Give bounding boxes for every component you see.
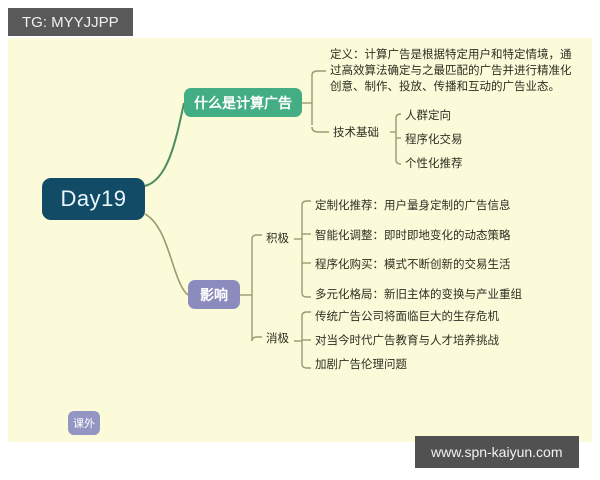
node-negative-item-2[interactable]: 对当今时代广告教育与人才培养挑战 [313, 333, 501, 350]
branch-node-impact[interactable]: 影响 [188, 280, 240, 309]
branch-node-what-is-computational-advertising[interactable]: 什么是计算广告 [184, 88, 302, 117]
telegram-watermark: TG: MYYJJPP [8, 8, 133, 36]
node-positive-item-1[interactable]: 定制化推荐：用户量身定制的广告信息 [313, 198, 513, 215]
tag-extracurricular[interactable]: 课外 [68, 411, 100, 435]
url-watermark: www.spn-kaiyun.com [415, 436, 579, 468]
node-definition[interactable]: 定义：计算广告是根据特定用户和特定情境，通过高效算法确定与之最匹配的广告并进行精… [328, 46, 582, 96]
node-positive[interactable]: 积极 [264, 231, 291, 248]
node-positive-item-4[interactable]: 多元化格局：新旧主体的变换与产业重组 [313, 287, 524, 304]
node-negative[interactable]: 消极 [264, 331, 291, 348]
node-positive-item-3[interactable]: 程序化购买：模式不断创新的交易生活 [313, 257, 513, 274]
root-node-day19[interactable]: Day19 [42, 178, 145, 220]
node-personalized-recommendation[interactable]: 个性化推荐 [403, 156, 465, 173]
node-audience-targeting[interactable]: 人群定向 [403, 108, 453, 125]
node-positive-item-2[interactable]: 智能化调整：即时即地变化的动态策略 [313, 228, 513, 245]
node-negative-item-3[interactable]: 加剧广告伦理问题 [313, 357, 409, 374]
node-technical-foundation[interactable]: 技术基础 [331, 125, 381, 142]
node-negative-item-1[interactable]: 传统广告公司将面临巨大的生存危机 [313, 309, 501, 326]
node-programmatic-trading[interactable]: 程序化交易 [403, 132, 465, 149]
